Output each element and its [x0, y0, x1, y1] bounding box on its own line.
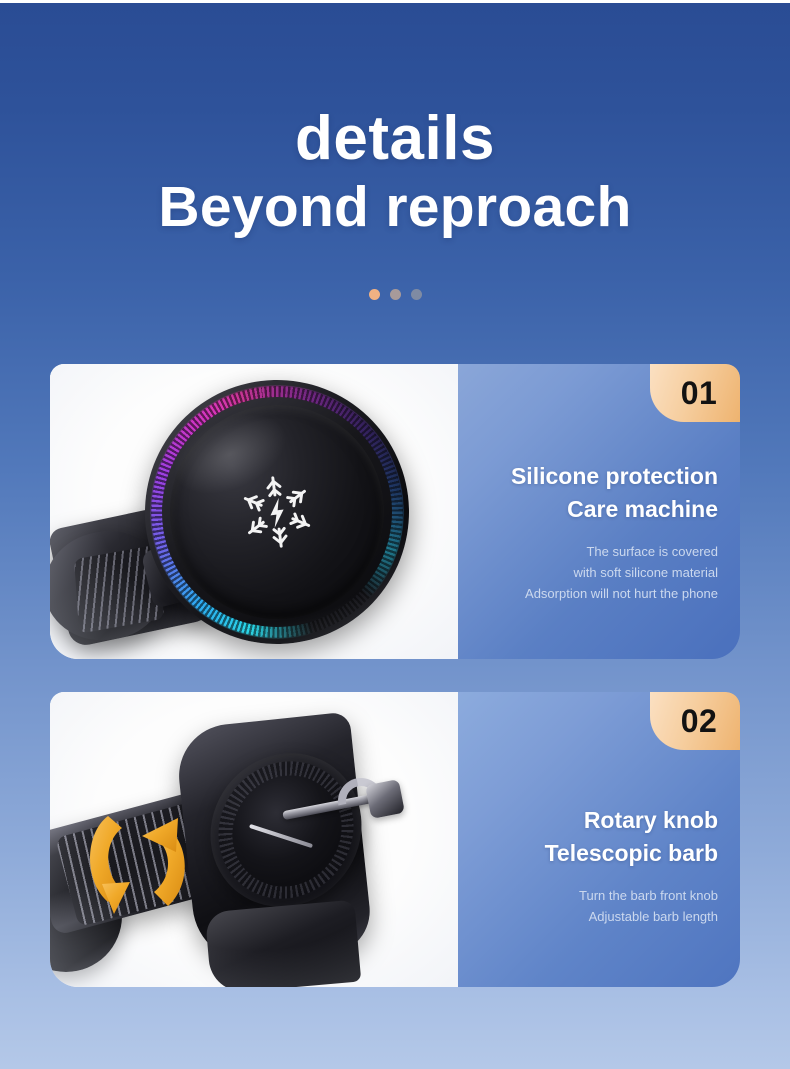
step-badge-01: 01	[650, 364, 740, 422]
top-edge-strip	[0, 0, 790, 3]
photo-backdrop	[50, 692, 458, 987]
snowflake-lightning-icon	[229, 464, 325, 560]
step-badge-number: 02	[673, 705, 718, 737]
photo-backdrop	[50, 364, 458, 659]
headline-line-1: details	[0, 108, 790, 170]
product-photo-01	[50, 364, 458, 659]
lightning-bolt-icon	[268, 498, 285, 529]
rotation-arrows-icon	[78, 790, 228, 940]
charger-disc	[130, 365, 424, 659]
feature-desc-line-1: Turn the barb front knob	[478, 885, 718, 906]
feature-desc-line-3: Adsorption will not hurt the phone	[478, 583, 718, 604]
plate-foot	[205, 900, 362, 987]
feature-card-01[interactable]: 01 Silicone protection Care machine The …	[50, 364, 740, 659]
carousel-dot-1[interactable]	[369, 289, 380, 300]
feature-text-panel-01: 01 Silicone protection Care machine The …	[458, 364, 740, 659]
feature-desc-line-1: The surface is covered	[478, 541, 718, 562]
carousel-dots[interactable]	[0, 289, 790, 300]
product-photo-02	[50, 692, 458, 987]
feature-card-02[interactable]: 02 Rotary knob Telescopic barb Turn the …	[50, 692, 740, 987]
feature-title-line-2: Telescopic barb	[478, 837, 718, 870]
feature-title-line-2: Care machine	[478, 493, 718, 526]
feature-desc-line-2: Adjustable barb length	[478, 906, 718, 927]
carousel-dot-3[interactable]	[411, 289, 422, 300]
feature-desc-line-2: with soft silicone material	[478, 562, 718, 583]
step-badge-02: 02	[650, 692, 740, 750]
product-detail-page: details Beyond reproach	[0, 0, 790, 1069]
feature-title-line-1: Rotary knob	[478, 804, 718, 837]
feature-text-panel-02: 02 Rotary knob Telescopic barb Turn the …	[458, 692, 740, 987]
feature-title-line-1: Silicone protection	[478, 460, 718, 493]
carousel-dot-2[interactable]	[390, 289, 401, 300]
page-headline: details Beyond reproach	[0, 108, 790, 244]
headline-line-2: Beyond reproach	[0, 170, 790, 244]
barb-end-cap	[365, 779, 405, 819]
step-badge-number: 01	[673, 377, 718, 409]
feature-copy-02: Rotary knob Telescopic barb Turn the bar…	[478, 804, 718, 927]
rotation-arrow-right-head	[142, 818, 178, 852]
feature-copy-01: Silicone protection Care machine The sur…	[478, 460, 718, 604]
